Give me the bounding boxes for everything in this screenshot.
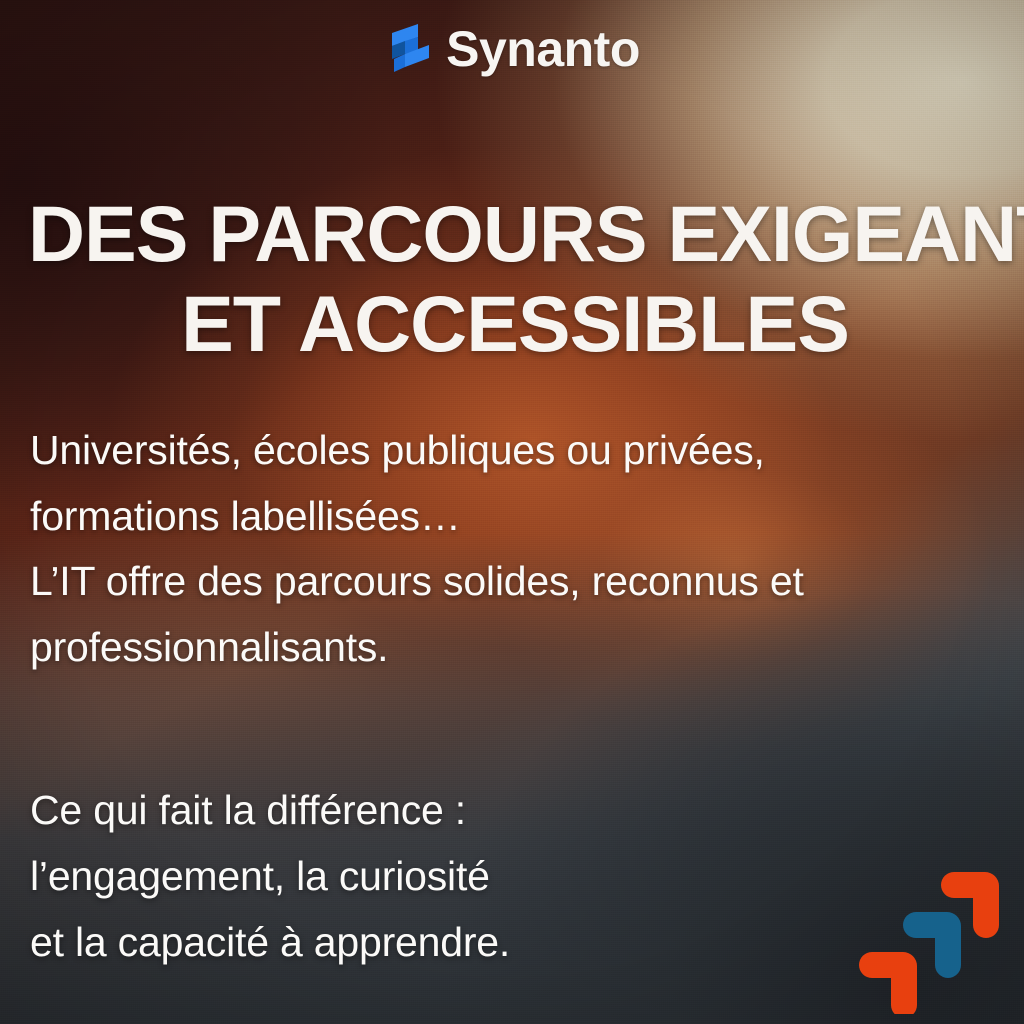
brand-lockup: Synanto <box>0 22 1024 76</box>
paragraph-1-line-3: L’IT offre des parcours solides, reconnu… <box>30 549 1004 615</box>
brand-wordmark: Synanto <box>446 24 640 74</box>
headline-line-1: DES PARCOURS EXIGEANTS <box>28 189 1002 279</box>
poster-canvas: Synanto DES PARCOURS EXIGEANTS ET ACCESS… <box>0 0 1024 1024</box>
paragraph-1-line-2: formations labellisées… <box>30 484 1004 550</box>
paragraph-1-line-1: Universités, écoles publiques ou privées… <box>30 418 1004 484</box>
paragraph-1-line-4: professionnalisants. <box>30 615 1004 681</box>
paragraph-1: Universités, écoles publiques ou privées… <box>30 418 1004 680</box>
headline-line-2: ET ACCESSIBLES <box>28 279 1002 369</box>
headline: DES PARCOURS EXIGEANTS ET ACCESSIBLES <box>28 189 1002 369</box>
chevron-bottom-left <box>859 952 917 1014</box>
paragraph-2-line-1: Ce qui fait la différence : <box>30 778 1004 844</box>
three-chevron-corners-icon <box>854 848 1010 1014</box>
synanto-s-mark-icon <box>384 22 430 76</box>
